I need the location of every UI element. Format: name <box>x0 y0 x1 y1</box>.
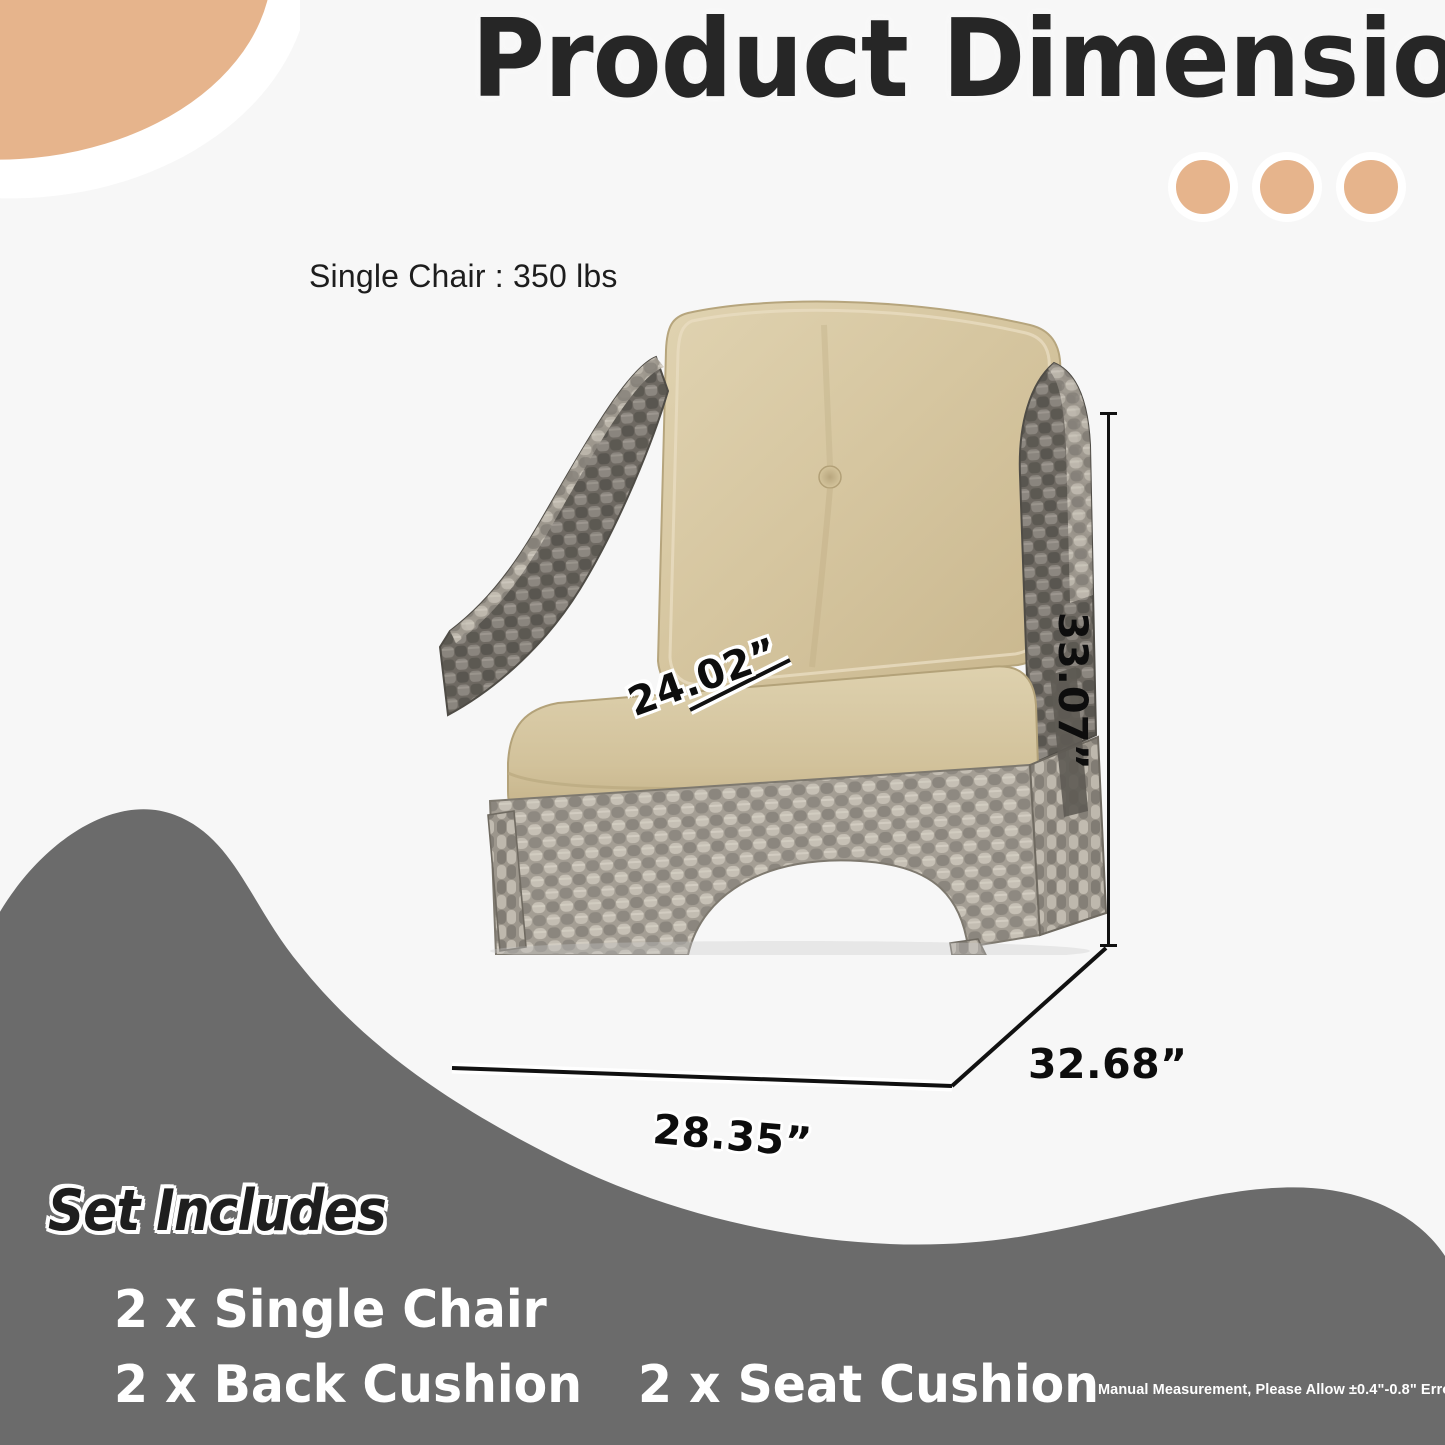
depth-label: 32.68” <box>1028 1040 1188 1088</box>
set-includes-item: 2 x Seat Cushion <box>638 1355 1099 1415</box>
measurement-disclaimer: Manual Measurement, Please Allow ±0.4"-0… <box>1098 1382 1445 1398</box>
height-line-top-cap <box>1100 412 1117 415</box>
width-dimension-line <box>452 1068 952 1086</box>
set-includes-item: 2 x Back Cushion <box>114 1355 582 1415</box>
height-label: 33.07” <box>1049 612 1095 771</box>
infographic-canvas: Product Dimension Single Chair : 350 lbs <box>0 0 1445 1445</box>
set-includes-item: 2 x Single Chair <box>114 1280 547 1340</box>
set-includes-title: Set Includes <box>48 1178 386 1244</box>
height-line-bottom-cap <box>1100 944 1117 947</box>
height-dimension-line <box>1107 412 1110 947</box>
